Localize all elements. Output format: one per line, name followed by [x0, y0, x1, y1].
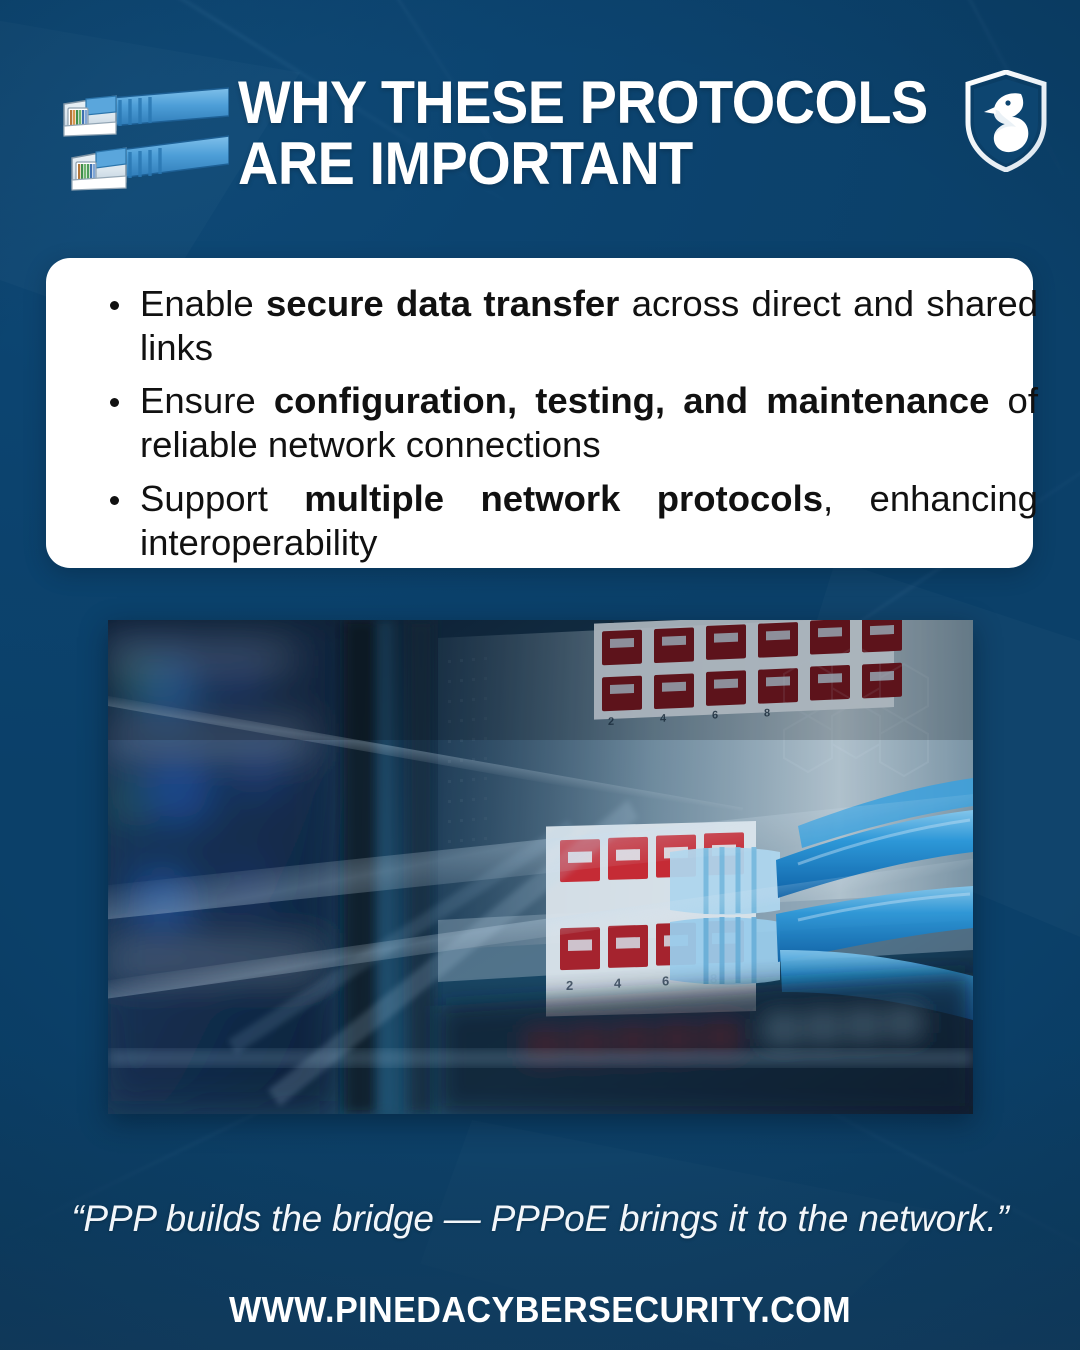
bullet-text-2: Ensure configuration, testing, and maint… — [140, 380, 1038, 465]
bullet-list: Enable secure data transfer across direc… — [94, 282, 1038, 574]
network-switch-photo: 135 7 246 8 — [108, 620, 973, 1114]
footer-quote: “PPP builds the bridge — PPPoE brings it… — [0, 1198, 1080, 1240]
poster-canvas: WHY THESE PROTOCOLS ARE IMPORTANT — [0, 0, 1080, 1350]
bullet-card: Enable secure data transfer across direc… — [46, 258, 1033, 568]
list-item: Ensure configuration, testing, and maint… — [140, 379, 1038, 467]
bullet-text-1: Enable secure data transfer across direc… — [140, 283, 1038, 368]
photo-illustration: 135 7 246 8 — [108, 620, 973, 1114]
ethernet-cable-icon — [24, 82, 229, 202]
header: WHY THESE PROTOCOLS ARE IMPORTANT — [0, 0, 1080, 240]
list-item: Support multiple network protocols, enha… — [140, 477, 1038, 565]
footer-url: WWW.PINEDACYBERSECURITY.COM — [27, 1289, 1053, 1331]
page-title-line-2: ARE IMPORTANT — [238, 133, 908, 194]
page-title-line-1: WHY THESE PROTOCOLS — [238, 72, 908, 133]
bullet-text-3: Support multiple network protocols, enha… — [140, 478, 1038, 563]
eagle-shield-logo — [964, 70, 1048, 172]
list-item: Enable secure data transfer across direc… — [140, 282, 1038, 370]
page-title: WHY THESE PROTOCOLS ARE IMPORTANT — [238, 72, 908, 194]
